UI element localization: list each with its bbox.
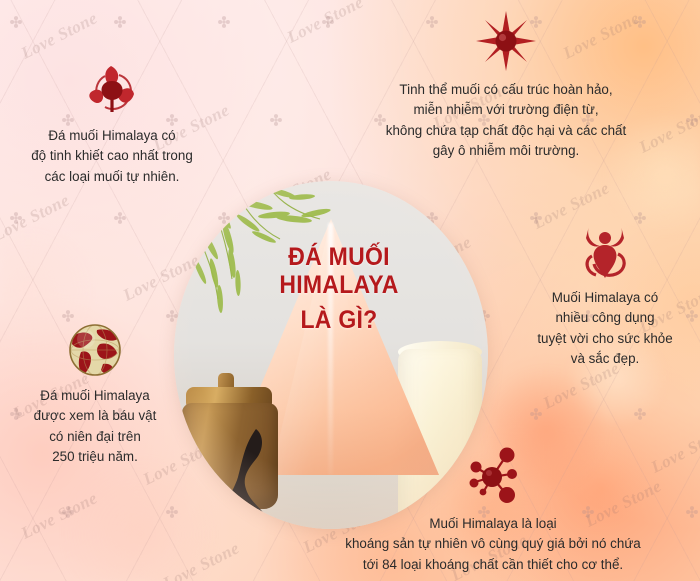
tree-recycle-icon [84, 62, 140, 118]
fact-text-health: Muối Himalaya có nhiều công dụng tuyệt v… [512, 288, 698, 370]
fact-block-minerals: Muối Himalaya là loại khoáng sản tự nhiê… [286, 444, 700, 575]
infographic-poster: Love StoneLove StoneLove StoneLove Stone… [0, 0, 700, 581]
page-title-line-1: ĐÁ MUỐI HIMALAYA [233, 243, 445, 299]
fact-text-purity: Đá muối Himalaya có độ tinh khiết cao nh… [6, 126, 218, 187]
fact-text-crystal: Tinh thể muối có cấu trúc hoàn hảo, miễn… [332, 80, 680, 162]
fact-text-age: Đá muối Himalaya được xem là báu vật có … [0, 386, 190, 468]
page-title-line-2: LÀ GÌ? [233, 306, 445, 334]
icon-wrap [512, 224, 698, 288]
fact-text-minerals: Muối Himalaya là loại khoáng sản tự nhiê… [286, 514, 700, 575]
sun-burst-icon [475, 10, 537, 72]
wellness-person-icon [580, 224, 630, 280]
globe-icon [67, 322, 123, 378]
fact-block-health: Muối Himalaya có nhiều công dụng tuyệt v… [512, 224, 698, 370]
molecule-icon [462, 444, 524, 506]
molecule-core [482, 467, 502, 487]
fact-block-age: Đá muối Himalaya được xem là báu vật có … [0, 322, 190, 468]
fact-block-purity: Đá muối Himalaya có độ tinh khiết cao nh… [6, 62, 218, 187]
tree-trunk [110, 95, 113, 112]
icon-wrap [6, 62, 218, 126]
icon-wrap [332, 10, 680, 80]
page-title: ĐÁ MUỐI HIMALAYA LÀ GÌ? [224, 243, 454, 334]
fact-block-crystal: Tinh thể muối có cấu trúc hoàn hảo, miễn… [332, 10, 680, 162]
icon-wrap [0, 322, 190, 386]
icon-wrap [286, 444, 700, 514]
